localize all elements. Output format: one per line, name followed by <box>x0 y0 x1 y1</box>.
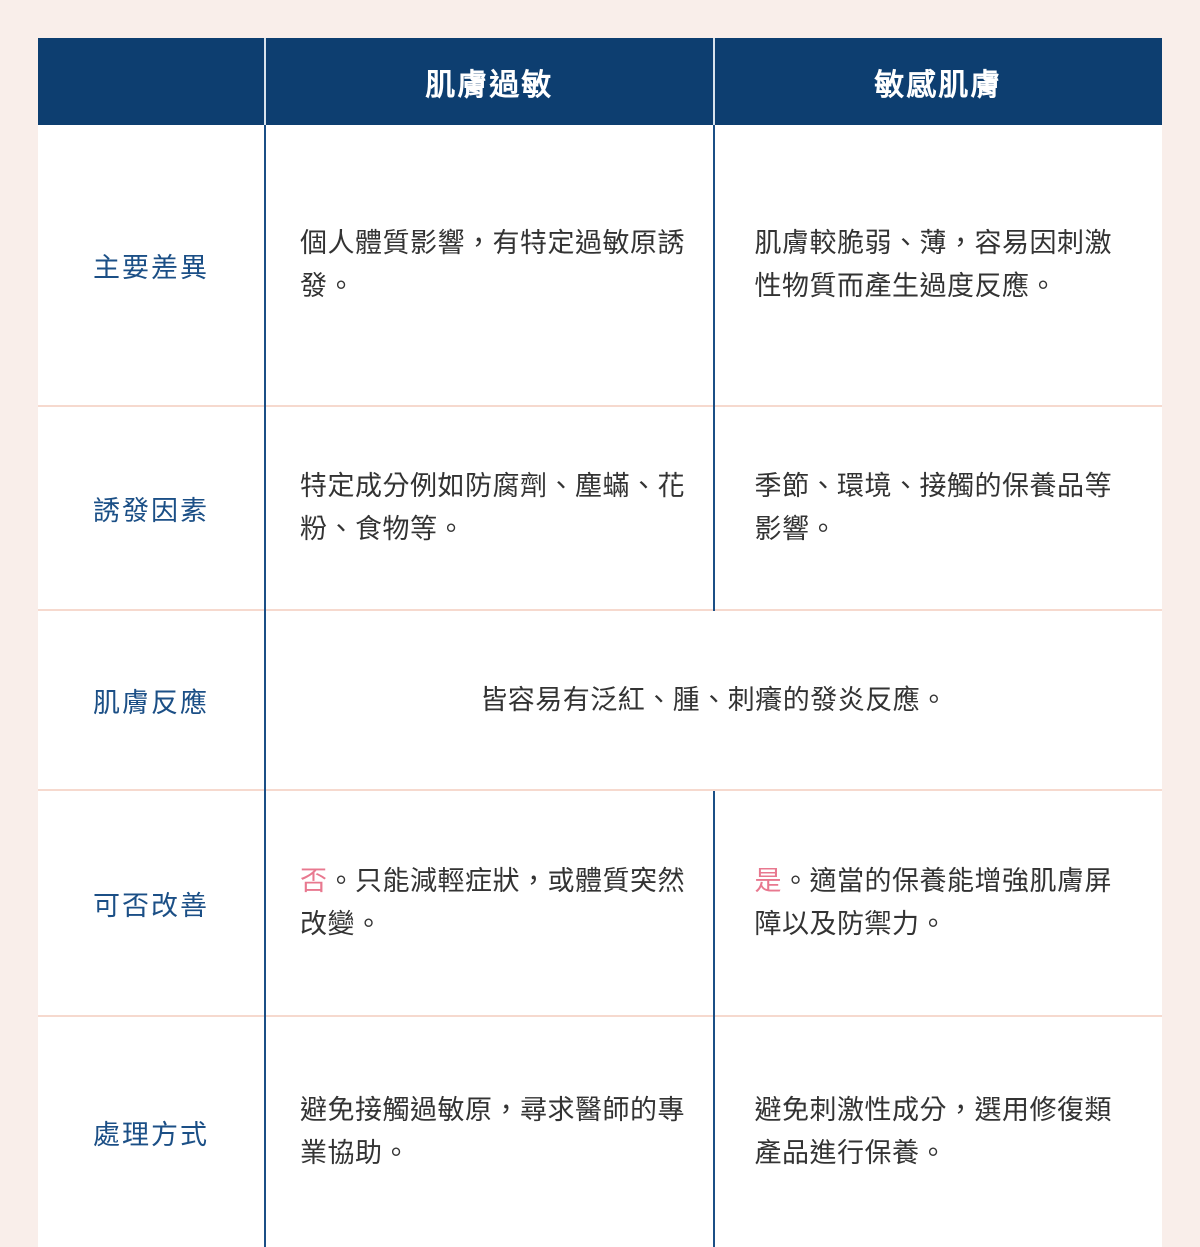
table-row: 肌膚反應 皆容易有泛紅、腫、刺癢的發炎反應。 <box>38 610 1162 790</box>
table-row: 主要差異 個人體質影響，有特定過敏原誘發。 肌膚較脆弱、薄，容易因刺激性物質而產… <box>38 125 1162 406</box>
table-header-row: 肌膚過敏 敏感肌膚 <box>38 38 1162 125</box>
comparison-table: 肌膚過敏 敏感肌膚 主要差異 個人體質影響，有特定過敏原誘發。 肌膚較脆弱、薄，… <box>38 38 1162 1247</box>
cell-main-difference-allergy: 個人體質影響，有特定過敏原誘發。 <box>265 125 714 406</box>
cell-skin-reaction-shared: 皆容易有泛紅、腫、刺癢的發炎反應。 <box>265 610 1162 790</box>
header-corner-cell <box>38 38 265 125</box>
table-body: 主要差異 個人體質影響，有特定過敏原誘發。 肌膚較脆弱、薄，容易因刺激性物質而產… <box>38 125 1162 1247</box>
row-label-trigger-factors: 誘發因素 <box>38 406 265 610</box>
table-row: 可否改善 否。只能減輕症狀，或體質突然改變。 是。適當的保養能增強肌膚屏障以及防… <box>38 790 1162 1016</box>
comparison-table-container: 肌膚過敏 敏感肌膚 主要差異 個人體質影響，有特定過敏原誘發。 肌膚較脆弱、薄，… <box>38 38 1162 965</box>
cell-improvable-sensitive-text: 。適當的保養能增強肌膚屏障以及防禦力。 <box>755 866 1113 939</box>
cell-improvable-allergy-text: 。只能減輕症狀，或體質突然改變。 <box>300 866 685 939</box>
column-header-allergy: 肌膚過敏 <box>265 38 714 125</box>
cell-handling-method-allergy: 避免接觸過敏原，尋求醫師的專業協助。 <box>265 1016 714 1247</box>
table-row: 處理方式 避免接觸過敏原，尋求醫師的專業協助。 避免刺激性成分，選用修復類產品進… <box>38 1016 1162 1247</box>
row-label-handling-method: 處理方式 <box>38 1016 265 1247</box>
row-label-skin-reaction: 肌膚反應 <box>38 610 265 790</box>
table-header: 肌膚過敏 敏感肌膚 <box>38 38 1162 125</box>
cell-trigger-factors-allergy: 特定成分例如防腐劑、塵蟎、花粉、食物等。 <box>265 406 714 610</box>
cell-improvable-sensitive: 是。適當的保養能增強肌膚屏障以及防禦力。 <box>714 790 1163 1016</box>
cell-improvable-allergy: 否。只能減輕症狀，或體質突然改變。 <box>265 790 714 1016</box>
cell-trigger-factors-sensitive: 季節、環境、接觸的保養品等影響。 <box>714 406 1163 610</box>
emphasis-yes: 是 <box>755 866 783 896</box>
table-row: 誘發因素 特定成分例如防腐劑、塵蟎、花粉、食物等。 季節、環境、接觸的保養品等影… <box>38 406 1162 610</box>
cell-handling-method-sensitive: 避免刺激性成分，選用修復類產品進行保養。 <box>714 1016 1163 1247</box>
row-label-improvable: 可否改善 <box>38 790 265 1016</box>
emphasis-no: 否 <box>300 866 328 896</box>
cell-main-difference-sensitive: 肌膚較脆弱、薄，容易因刺激性物質而產生過度反應。 <box>714 125 1163 406</box>
column-header-sensitive: 敏感肌膚 <box>714 38 1163 125</box>
row-label-main-difference: 主要差異 <box>38 125 265 406</box>
